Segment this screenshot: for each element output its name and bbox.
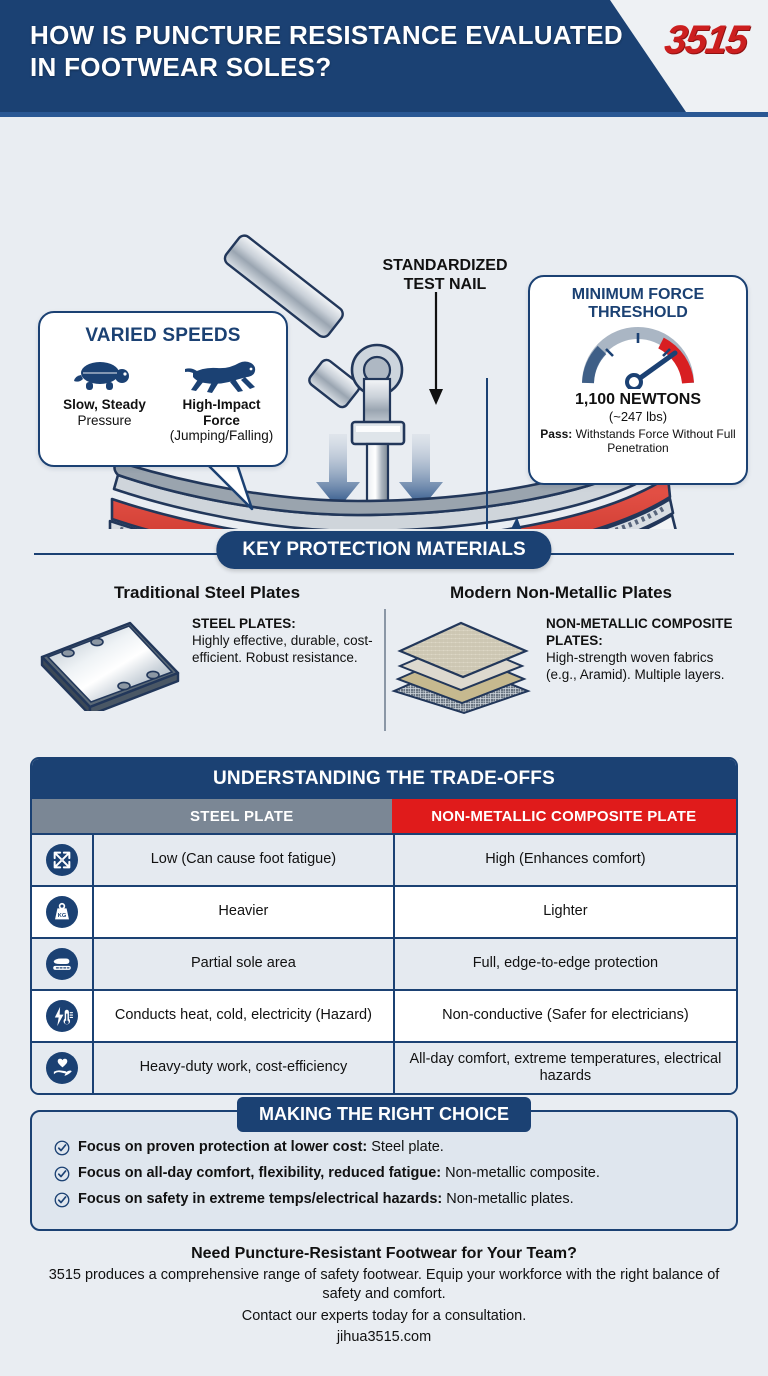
choice-text: Focus on all-day comfort, flexibility, r… — [78, 1165, 600, 1181]
making-the-right-choice-box: MAKING THE RIGHT CHOICE Focus on proven … — [30, 1110, 738, 1231]
pass-label: Pass: — [540, 427, 572, 441]
varied-speeds-callout: VARIED SPEEDS Slow, Steady Pressure — [38, 311, 288, 467]
speed-label-secondary: Pressure — [46, 413, 163, 429]
tradeoffs-table-title: UNDERSTANDING THE TRADE-OFFS — [32, 759, 736, 799]
speed-item-slow: Slow, Steady Pressure — [46, 357, 163, 444]
sole-coverage-icon — [46, 948, 78, 980]
row-icon-cell: KG — [32, 887, 94, 937]
material-description-title: NON-METALLIC COMPOSITE PLATES: — [546, 615, 734, 649]
choice-section-title: MAKING THE RIGHT CHOICE — [237, 1097, 531, 1132]
choice-text-bold: Focus on safety in extreme temps/electri… — [78, 1191, 442, 1207]
table-row: KG Heavier Lighter — [32, 885, 736, 937]
min-force-value-lbs: (~247 lbs) — [530, 409, 746, 424]
choice-text-rest: Non-metallic plates. — [442, 1191, 573, 1207]
table-row: Low (Can cause foot fatigue) High (Enhan… — [32, 833, 736, 885]
weight-kg-icon: KG — [46, 896, 78, 928]
cell-nonmetallic: Lighter — [395, 887, 736, 937]
cell-nonmetallic: High (Enhances comfort) — [395, 835, 736, 885]
table-row: Conducts heat, cold, electricity (Hazard… — [32, 989, 736, 1041]
pass-text: Withstands Force Without Full Penetratio… — [572, 427, 735, 455]
cell-steel: Heavy-duty work, cost-efficiency — [94, 1043, 395, 1093]
row-icon-cell — [32, 835, 94, 885]
min-force-title-line1: MINIMUM FORCE — [530, 286, 746, 304]
test-diagram: VARIED SPEEDS Slow, Steady Pressure — [0, 117, 768, 529]
cta-body: 3515 produces a comprehensive range of s… — [44, 1266, 724, 1304]
column-header-nonmetallic: NON-METALLIC COMPOSITE PLATE — [392, 799, 736, 833]
choice-text-rest: Steel plate. — [367, 1139, 444, 1155]
materials-section-heading: KEY PROTECTION MATERIALS — [0, 531, 768, 575]
material-description: NON-METALLIC COMPOSITE PLATES: High-stre… — [546, 611, 734, 683]
choice-text: Focus on safety in extreme temps/electri… — [78, 1191, 574, 1207]
check-circle-icon — [54, 1192, 70, 1212]
cta-footer: Need Puncture-Resistant Footwear for You… — [44, 1245, 724, 1345]
cheetah-icon — [163, 357, 280, 395]
svg-text:KG: KG — [58, 913, 67, 919]
speed-item-impact: High-Impact Force (Jumping/Falling) — [163, 357, 280, 444]
choice-item: Focus on safety in extreme temps/electri… — [54, 1191, 720, 1212]
choice-text: Focus on proven protection at lower cost… — [78, 1139, 444, 1155]
check-circle-icon — [54, 1166, 70, 1186]
min-force-title-line2: THRESHOLD — [530, 304, 746, 322]
material-description-text: High-strength woven fabrics (e.g., Arami… — [546, 650, 725, 682]
tradeoffs-table: UNDERSTANDING THE TRADE-OFFS STEEL PLATE… — [30, 757, 738, 1095]
cell-nonmetallic: Full, edge-to-edge protection — [395, 939, 736, 989]
materials-comparison: Traditional Steel Plates — [30, 583, 738, 743]
material-column-composite: Modern Non-Metallic Plates — [384, 583, 738, 743]
row-icon-cell — [32, 939, 94, 989]
table-row: Partial sole area Full, edge-to-edge pro… — [32, 937, 736, 989]
table-row: Heavy-duty work, cost-efficiency All-day… — [32, 1041, 736, 1093]
cell-steel: Low (Can cause foot fatigue) — [94, 835, 395, 885]
standardized-test-nail-label: STANDARDIZED TEST NAIL — [360, 257, 530, 295]
row-icon-cell — [32, 1043, 94, 1093]
composite-layers-icon — [388, 611, 538, 716]
choice-text-rest: Non-metallic composite. — [441, 1165, 600, 1181]
cta-contact: Contact our experts today for a consulta… — [44, 1307, 724, 1326]
icon-column-header — [32, 799, 92, 833]
cell-steel: Conducts heat, cold, electricity (Hazard… — [94, 991, 395, 1041]
cell-steel: Partial sole area — [94, 939, 395, 989]
cta-website-url[interactable]: jihua3515.com — [44, 1329, 724, 1345]
cell-nonmetallic: Non-conductive (Safer for electricians) — [395, 991, 736, 1041]
materials-section-title: KEY PROTECTION MATERIALS — [216, 531, 551, 569]
choice-item: Focus on proven protection at lower cost… — [54, 1139, 720, 1160]
min-force-pass-criteria: Pass: Withstands Force Without Full Pene… — [530, 427, 746, 456]
cta-heading: Need Puncture-Resistant Footwear for You… — [44, 1245, 724, 1263]
brand-logo-3515: 3515 — [662, 18, 749, 63]
force-gauge-icon — [578, 327, 698, 389]
check-circle-icon — [54, 1140, 70, 1160]
material-column-steel: Traditional Steel Plates — [30, 583, 384, 743]
page-header: HOW IS PUNCTURE RESISTANCE EVALUATED IN … — [0, 0, 768, 112]
material-description-title: STEEL PLATES: — [192, 615, 380, 632]
cell-nonmetallic: All-day comfort, extreme temperatures, e… — [395, 1043, 736, 1093]
tradeoffs-column-headers: STEEL PLATE NON-METALLIC COMPOSITE PLATE — [32, 799, 736, 833]
choice-text-bold: Focus on all-day comfort, flexibility, r… — [78, 1165, 441, 1181]
turtle-icon — [46, 357, 163, 395]
speed-label-primary: High-Impact Force — [163, 397, 280, 428]
material-description-text: Highly effective, durable, cost-efficien… — [192, 633, 373, 665]
page-title: HOW IS PUNCTURE RESISTANCE EVALUATED IN … — [30, 20, 630, 83]
material-description: STEEL PLATES: Highly effective, durable,… — [192, 611, 380, 666]
heart-in-hand-icon — [46, 1052, 78, 1084]
varied-speeds-title: VARIED SPEEDS — [40, 325, 286, 347]
speed-label-primary: Slow, Steady — [46, 397, 163, 413]
speed-label-secondary: (Jumping/Falling) — [163, 428, 280, 444]
choice-text-bold: Focus on proven protection at lower cost… — [78, 1139, 367, 1155]
steel-plate-icon — [34, 611, 184, 711]
flexibility-arrows-icon — [46, 844, 78, 876]
column-header-steel: STEEL PLATE — [92, 799, 392, 833]
minimum-force-threshold-callout: MINIMUM FORCE THRESHOLD 1,100 NEWTONS (~… — [528, 275, 748, 485]
cell-steel: Heavier — [94, 887, 395, 937]
thermal-electric-icon — [46, 1000, 78, 1032]
material-heading: Modern Non-Metallic Plates — [384, 583, 738, 603]
row-icon-cell — [32, 991, 94, 1041]
material-heading: Traditional Steel Plates — [30, 583, 384, 603]
min-force-value: 1,100 NEWTONS — [530, 391, 746, 409]
choice-item: Focus on all-day comfort, flexibility, r… — [54, 1165, 720, 1186]
